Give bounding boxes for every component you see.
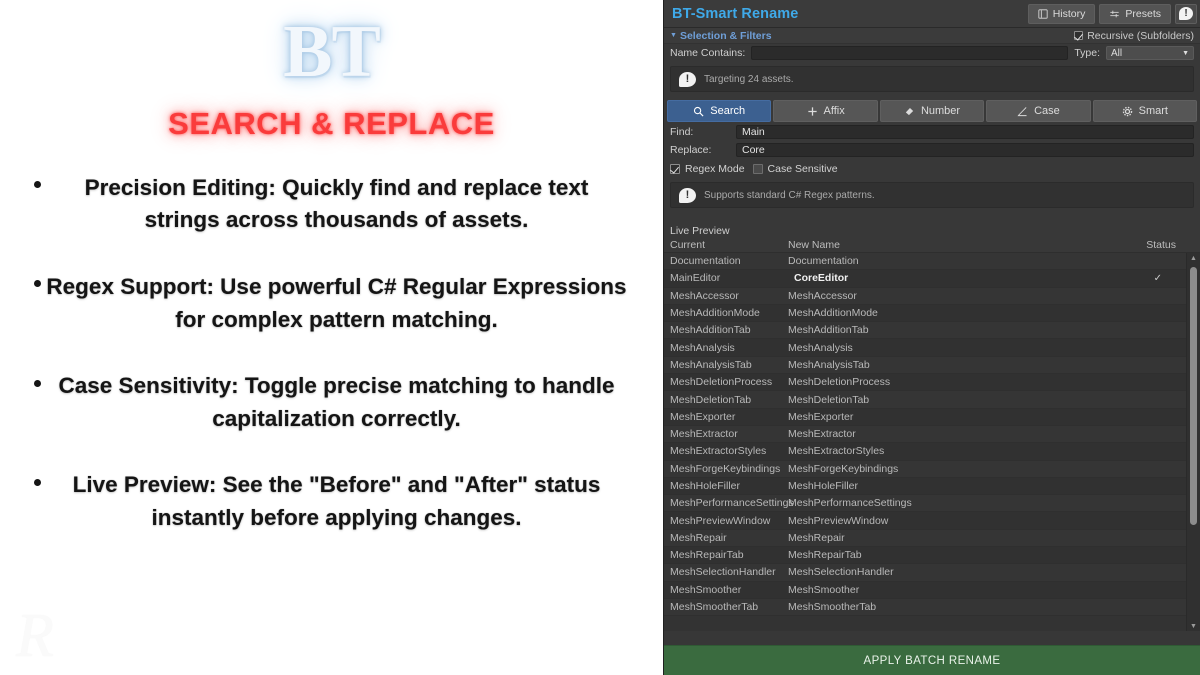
feature-text: Case Sensitivity: Toggle precise matchin… xyxy=(59,373,615,431)
search-icon xyxy=(693,106,704,117)
replace-label: Replace: xyxy=(670,144,730,156)
filter-row: Name Contains: Type: All ▼ xyxy=(664,44,1200,62)
promo-panel: BT SEARCH & REPLACE Precision Editing: Q… xyxy=(0,0,663,675)
table-row[interactable]: DocumentationDocumentation xyxy=(664,253,1186,270)
bullet-icon xyxy=(34,280,41,287)
tab-smart-label: Smart xyxy=(1139,105,1168,117)
table-row[interactable]: MeshAccessorMeshAccessor xyxy=(664,288,1186,305)
cell-new-name: MeshExtractor xyxy=(788,428,1120,440)
table-row[interactable]: MeshExtractorStylesMeshExtractorStyles xyxy=(664,443,1186,460)
table-row[interactable]: MeshAdditionTabMeshAdditionTab xyxy=(664,322,1186,339)
live-preview-rows: DocumentationDocumentationMainEditorCore… xyxy=(664,253,1186,631)
cell-current: MeshAccessor xyxy=(670,290,788,302)
history-icon xyxy=(1038,9,1048,19)
brand-block: BT xyxy=(0,0,663,92)
cell-new-name: MeshAdditionMode xyxy=(788,307,1120,319)
cell-new-name: MeshSmoother xyxy=(788,584,1120,596)
feature-text: Regex Support: Use powerful C# Regular E… xyxy=(46,274,626,332)
history-button[interactable]: History xyxy=(1028,4,1096,24)
preview-scrollbar[interactable]: ▲ ▼ xyxy=(1186,253,1200,631)
table-row[interactable]: MeshPerformanceSettingsMeshPerformanceSe… xyxy=(664,495,1186,512)
column-header-current: Current xyxy=(670,239,788,251)
cell-current: MeshForgeKeybindings xyxy=(670,463,788,475)
promo-headline: SEARCH & REPLACE xyxy=(0,106,663,142)
regex-info-message: Supports standard C# Regex patterns. xyxy=(704,190,875,201)
cell-new-name: MeshAdditionTab xyxy=(788,324,1120,336)
table-row[interactable]: MainEditorCoreEditor✓ xyxy=(664,270,1186,287)
cell-current: MeshAnalysisTab xyxy=(670,359,788,371)
live-preview-title: Live Preview xyxy=(664,224,1200,238)
help-icon: ! xyxy=(1179,7,1193,20)
cell-new-name: MeshHoleFiller xyxy=(788,480,1120,492)
cell-current: Documentation xyxy=(670,255,788,267)
cell-new-name: Documentation xyxy=(788,255,1120,267)
tab-search-label: Search xyxy=(710,105,745,117)
mode-tabs: Search Affix Number Case xyxy=(667,100,1197,122)
preview-footer-spacer xyxy=(664,631,1200,645)
tab-affix-label: Affix xyxy=(824,105,845,117)
tab-case-label: Case xyxy=(1034,105,1060,117)
table-row[interactable]: MeshAdditionModeMeshAdditionMode xyxy=(664,305,1186,322)
tab-smart[interactable]: Smart xyxy=(1093,100,1197,122)
bullet-icon xyxy=(34,380,41,387)
cell-current: MeshPerformanceSettings xyxy=(670,497,788,509)
table-row[interactable]: MeshAnalysisMeshAnalysis xyxy=(664,339,1186,356)
table-row[interactable]: MeshSmootherMeshSmoother xyxy=(664,582,1186,599)
table-row[interactable]: MeshExtractorMeshExtractor xyxy=(664,426,1186,443)
cell-new-name: MeshExtractorStyles xyxy=(788,445,1120,457)
pencil-icon xyxy=(1017,106,1028,117)
cell-new-name: MeshAccessor xyxy=(788,290,1120,302)
table-row[interactable]: MeshDeletionTabMeshDeletionTab xyxy=(664,391,1186,408)
table-row[interactable]: MeshPreviewWindowMeshPreviewWindow xyxy=(664,512,1186,529)
cell-current: MeshAnalysis xyxy=(670,342,788,354)
info-bubble-icon: ! xyxy=(679,72,696,87)
cell-new-name: MeshSelectionHandler xyxy=(788,566,1120,578)
plus-icon xyxy=(807,106,818,117)
cell-current: MeshExtractorStyles xyxy=(670,445,788,457)
cell-current: MeshSmoother xyxy=(670,584,788,596)
tab-case[interactable]: Case xyxy=(986,100,1090,122)
live-preview-header: Current New Name Status xyxy=(664,238,1200,253)
scroll-up-icon[interactable]: ▲ xyxy=(1190,253,1197,263)
table-row[interactable]: MeshDeletionProcessMeshDeletionProcess xyxy=(664,374,1186,391)
bt-logo: BT xyxy=(283,14,380,92)
cell-current: MeshSelectionHandler xyxy=(670,566,788,578)
recursive-checkbox[interactable] xyxy=(1074,31,1083,40)
cell-current: MeshAdditionMode xyxy=(670,307,788,319)
regex-mode-checkbox[interactable] xyxy=(670,164,680,174)
cell-new-name: MeshRepairTab xyxy=(788,549,1120,561)
chevron-down-icon: ▼ xyxy=(1182,50,1189,57)
table-row[interactable]: MeshRepairTabMeshRepairTab xyxy=(664,547,1186,564)
cell-current: MeshPreviewWindow xyxy=(670,515,788,527)
find-row: Find: Main xyxy=(664,124,1200,140)
selection-filters-header[interactable]: ▼ Selection & Filters Recursive (Subfold… xyxy=(664,28,1200,44)
list-item: Case Sensitivity: Toggle precise matchin… xyxy=(34,370,639,435)
presets-button[interactable]: Presets xyxy=(1099,4,1171,24)
sliders-icon xyxy=(1109,9,1120,19)
cell-current: MeshRepair xyxy=(670,532,788,544)
recursive-toggle[interactable]: Recursive (Subfolders) xyxy=(1074,30,1194,42)
regex-mode-toggle[interactable]: Regex Mode xyxy=(670,163,745,175)
table-row[interactable]: MeshExporterMeshExporter xyxy=(664,409,1186,426)
cell-current: MeshRepairTab xyxy=(670,549,788,561)
cell-new-name: MeshSmootherTab xyxy=(788,601,1120,613)
type-value: All xyxy=(1111,48,1182,59)
gear-icon xyxy=(1122,106,1133,117)
list-item: Live Preview: See the "Before" and "Afte… xyxy=(34,469,639,534)
presets-label: Presets xyxy=(1125,8,1161,20)
cell-new-name: MeshRepair xyxy=(788,532,1120,544)
tool-titlebar: BT-Smart Rename History Presets ! xyxy=(664,0,1200,28)
cell-new-name: MeshDeletionProcess xyxy=(788,376,1120,388)
name-contains-input[interactable] xyxy=(751,46,1068,60)
tag-icon xyxy=(904,106,915,117)
feature-list: Precision Editing: Quickly find and repl… xyxy=(0,172,663,535)
cell-current: MeshExtractor xyxy=(670,428,788,440)
help-button[interactable]: ! xyxy=(1175,4,1197,24)
tab-number-label: Number xyxy=(921,105,960,117)
replace-input[interactable]: Core xyxy=(736,143,1194,157)
column-header-new-name: New Name xyxy=(788,239,1134,251)
list-item: Regex Support: Use powerful C# Regular E… xyxy=(34,271,639,336)
section-title: Selection & Filters xyxy=(680,30,772,42)
name-contains-label: Name Contains: xyxy=(670,47,745,59)
table-row[interactable]: MeshRepairMeshRepair xyxy=(664,530,1186,547)
page-root: BT SEARCH & REPLACE Precision Editing: Q… xyxy=(0,0,1200,675)
targeting-message: Targeting 24 assets. xyxy=(704,74,794,85)
history-label: History xyxy=(1053,8,1086,20)
find-input[interactable]: Main xyxy=(736,125,1194,139)
recursive-label: Recursive (Subfolders) xyxy=(1087,30,1194,42)
cell-new-name: MeshDeletionTab xyxy=(788,394,1120,406)
scrollbar-thumb[interactable] xyxy=(1190,267,1197,525)
cell-new-name: MeshPerformanceSettings xyxy=(788,497,1120,509)
table-row[interactable]: MeshSmootherTabMeshSmootherTab xyxy=(664,599,1186,616)
case-sensitive-checkbox[interactable] xyxy=(753,164,763,174)
cell-new-name: MeshAnalysisTab xyxy=(788,359,1120,371)
feature-text: Live Preview: See the "Before" and "Afte… xyxy=(73,472,601,530)
cell-current: MeshDeletionTab xyxy=(670,394,788,406)
cell-status: ✓ xyxy=(1120,273,1180,284)
type-label: Type: xyxy=(1074,47,1100,59)
table-row[interactable]: MeshForgeKeybindingsMeshForgeKeybindings xyxy=(664,461,1186,478)
table-row[interactable]: MeshSelectionHandlerMeshSelectionHandler xyxy=(664,564,1186,581)
regex-info-box: ! Supports standard C# Regex patterns. xyxy=(670,182,1194,208)
bullet-icon xyxy=(34,181,41,188)
case-sensitive-toggle[interactable]: Case Sensitive xyxy=(753,163,838,175)
column-header-status: Status xyxy=(1134,239,1194,251)
feature-text: Precision Editing: Quickly find and repl… xyxy=(85,175,589,233)
apply-batch-rename-button[interactable]: APPLY BATCH RENAME xyxy=(664,645,1200,675)
cell-new-name: MeshExporter xyxy=(788,411,1120,423)
tab-number[interactable]: Number xyxy=(880,100,984,122)
type-dropdown[interactable]: All ▼ xyxy=(1106,46,1194,60)
live-preview-body: DocumentationDocumentationMainEditorCore… xyxy=(664,253,1200,631)
cell-current: MeshAdditionTab xyxy=(670,324,788,336)
watermark-logo: R xyxy=(16,605,54,667)
table-row[interactable]: MeshHoleFillerMeshHoleFiller xyxy=(664,478,1186,495)
replace-row: Replace: Core xyxy=(664,142,1200,158)
chevron-down-icon: ▼ xyxy=(670,32,677,39)
search-options-row: Regex Mode Case Sensitive xyxy=(664,160,1200,178)
cell-current: MeshSmootherTab xyxy=(670,601,788,613)
cell-current: MeshHoleFiller xyxy=(670,480,788,492)
list-item: Precision Editing: Quickly find and repl… xyxy=(34,172,639,237)
bullet-icon xyxy=(34,479,41,486)
cell-new-name: CoreEditor xyxy=(788,272,1120,284)
cell-new-name: MeshForgeKeybindings xyxy=(788,463,1120,475)
scroll-down-icon[interactable]: ▼ xyxy=(1190,621,1197,631)
cell-current: MainEditor xyxy=(670,272,788,284)
app-title: BT-Smart Rename xyxy=(672,6,1024,22)
tab-search[interactable]: Search xyxy=(667,100,771,122)
tab-affix[interactable]: Affix xyxy=(773,100,877,122)
cell-current: MeshDeletionProcess xyxy=(670,376,788,388)
case-sensitive-label: Case Sensitive xyxy=(768,163,838,175)
cell-new-name: MeshAnalysis xyxy=(788,342,1120,354)
find-label: Find: xyxy=(670,126,730,138)
cell-current: MeshExporter xyxy=(670,411,788,423)
targeting-info-box: ! Targeting 24 assets. xyxy=(670,66,1194,92)
table-row[interactable]: MeshAnalysisTabMeshAnalysisTab xyxy=(664,357,1186,374)
scrollbar-track[interactable] xyxy=(1187,263,1200,621)
info-bubble-icon: ! xyxy=(679,188,696,203)
cell-new-name: MeshPreviewWindow xyxy=(788,515,1120,527)
regex-mode-label: Regex Mode xyxy=(685,163,745,175)
rename-tool-panel: BT-Smart Rename History Presets ! ▼ Sele… xyxy=(663,0,1200,675)
